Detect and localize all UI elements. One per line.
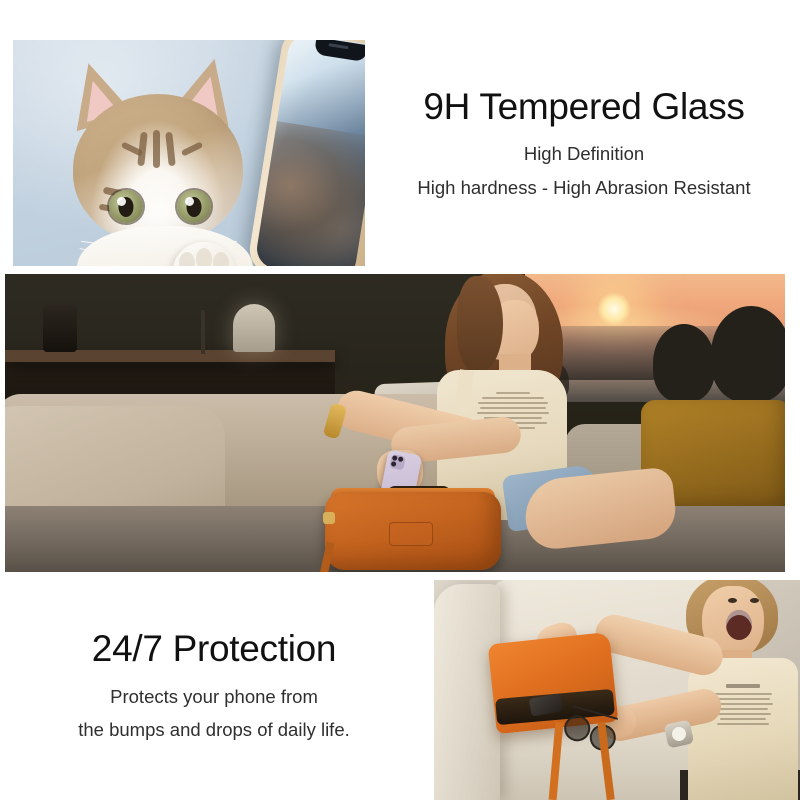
handbag-zipper-pull — [323, 512, 335, 524]
glass-headline: 9H Tempered Glass — [378, 88, 790, 127]
woman-hair-front — [457, 276, 503, 372]
protection-subline-2: the bumps and drops of daily life. — [8, 716, 420, 745]
kitten-head — [73, 94, 243, 244]
glass-subline-1: High Definition — [378, 140, 790, 169]
shocked-woman-eye — [750, 598, 759, 603]
kitten-eye-right — [177, 190, 211, 223]
photo-living-room-sunset — [5, 274, 785, 572]
kitten-toe — [179, 252, 195, 266]
phone-camera-module-icon — [389, 454, 405, 470]
handbag-brand-tag — [389, 522, 433, 546]
tree — [653, 324, 715, 402]
protection-text-block: 24/7 Protection Protects your phone from… — [8, 630, 420, 744]
kitten-toe — [196, 248, 212, 266]
shocked-woman-open-mouth — [726, 610, 752, 640]
window-sunset-view — [525, 274, 785, 402]
product-infographic-page: 9H Tempered Glass High Definition High h… — [0, 0, 800, 800]
tank-top-print — [712, 684, 774, 736]
kitten-figure — [61, 60, 271, 266]
kitten-eye-glint — [185, 197, 194, 206]
shocked-woman-eye — [728, 598, 737, 603]
kitten-eye-left — [109, 190, 143, 223]
kitten-toe — [213, 252, 229, 266]
lamp-pole — [201, 310, 205, 354]
photo-dropped-bag — [434, 580, 800, 800]
sofa-armrest — [434, 584, 500, 800]
protection-subline-1: Protects your phone from — [8, 683, 420, 712]
kitten-stripe — [181, 141, 203, 156]
glass-text-block: 9H Tempered Glass High Definition High h… — [378, 88, 790, 202]
kitten-stripe — [153, 130, 160, 168]
sun — [597, 292, 631, 326]
protection-headline: 24/7 Protection — [8, 630, 420, 669]
glass-subline-2: High hardness - High Abrasion Resistant — [378, 174, 790, 203]
kitten-stripe — [165, 132, 176, 167]
sunglasses-lens — [561, 712, 593, 744]
photo-kitten-phone — [13, 40, 365, 266]
vase-decor — [43, 304, 77, 352]
table-lamp — [233, 304, 275, 352]
kitten-eye-glint — [117, 197, 126, 206]
tree — [711, 306, 785, 402]
